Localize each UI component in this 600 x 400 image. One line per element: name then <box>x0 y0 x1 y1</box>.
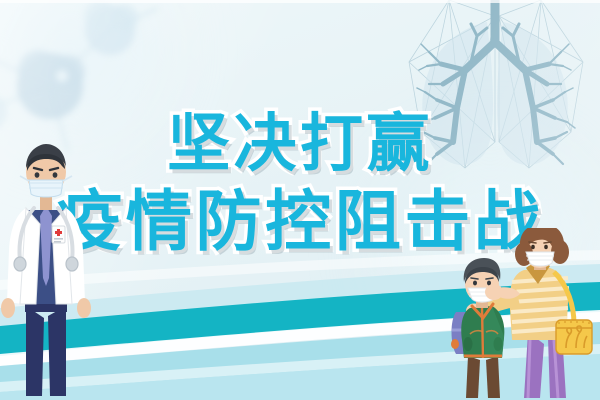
boy-leg-left <box>466 356 480 398</box>
molecule-cluster-icon <box>0 0 172 155</box>
family-figures <box>450 228 600 400</box>
mother-mask <box>526 252 554 266</box>
doctor-figure <box>0 138 104 400</box>
poster-canvas: 坚决打赢 疫情防控阻击战 <box>0 0 600 400</box>
doctor-leg-left <box>26 306 44 396</box>
top-edge-highlight <box>0 0 600 3</box>
doctor-hand-right <box>77 298 91 318</box>
lungs-wireframe-icon <box>391 0 600 182</box>
boy-leg-right <box>486 356 500 398</box>
doctor-leg-right <box>48 306 66 396</box>
doctor-hand-left <box>1 298 15 318</box>
